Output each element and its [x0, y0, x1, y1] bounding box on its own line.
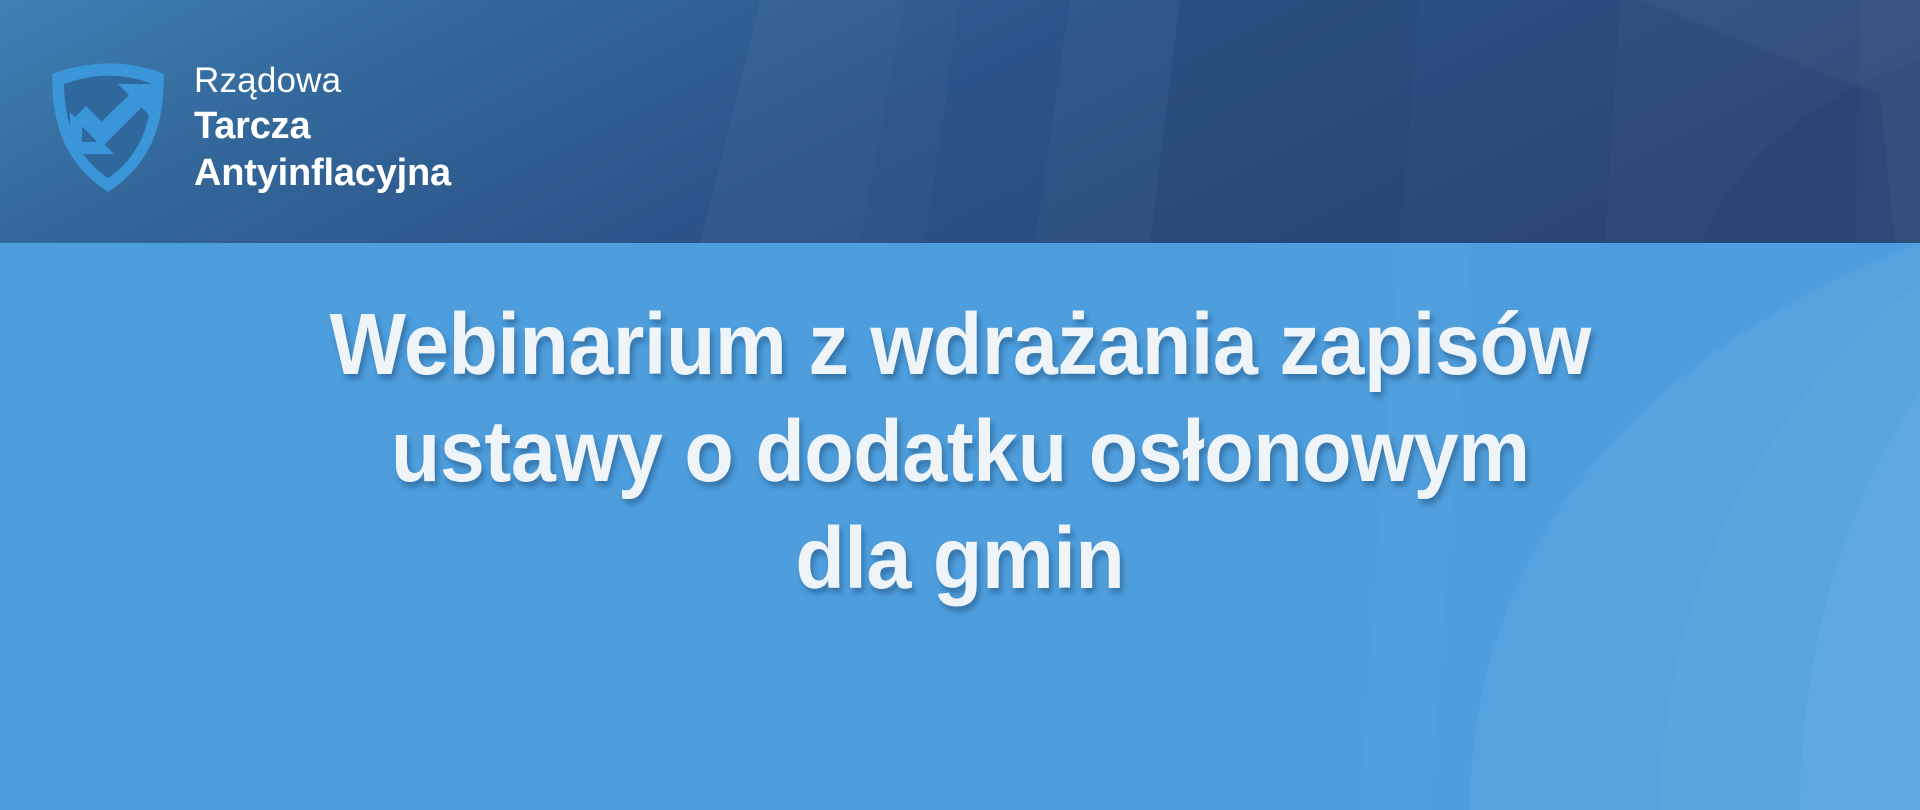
- banner-title-line-1: Webinarium z wdrażania zapisów: [329, 291, 1590, 398]
- banner-graphic: Rządowa Tarcza Antyinflacyjna Webinarium…: [0, 0, 1920, 810]
- banner-title: Webinarium z wdrażania zapisów ustawy o …: [0, 243, 1920, 810]
- brand-line-antyinflacyjna: Antyinflacyjna: [194, 154, 451, 192]
- brand-line-tarcza: Tarcza: [194, 107, 451, 145]
- header-bar: Rządowa Tarcza Antyinflacyjna: [0, 0, 1920, 243]
- brand-logo: Rządowa Tarcza Antyinflacyjna: [48, 56, 451, 196]
- shield-with-arrows-icon: [48, 58, 168, 194]
- title-area: Webinarium z wdrażania zapisów ustawy o …: [0, 243, 1920, 810]
- banner-title-line-2: ustawy o dodatku osłonowym: [391, 398, 1530, 505]
- brand-line-rzadowa: Rządowa: [194, 63, 451, 98]
- banner-title-line-3: dla gmin: [796, 505, 1125, 612]
- brand-wordmark: Rządowa Tarcza Antyinflacyjna: [194, 61, 451, 192]
